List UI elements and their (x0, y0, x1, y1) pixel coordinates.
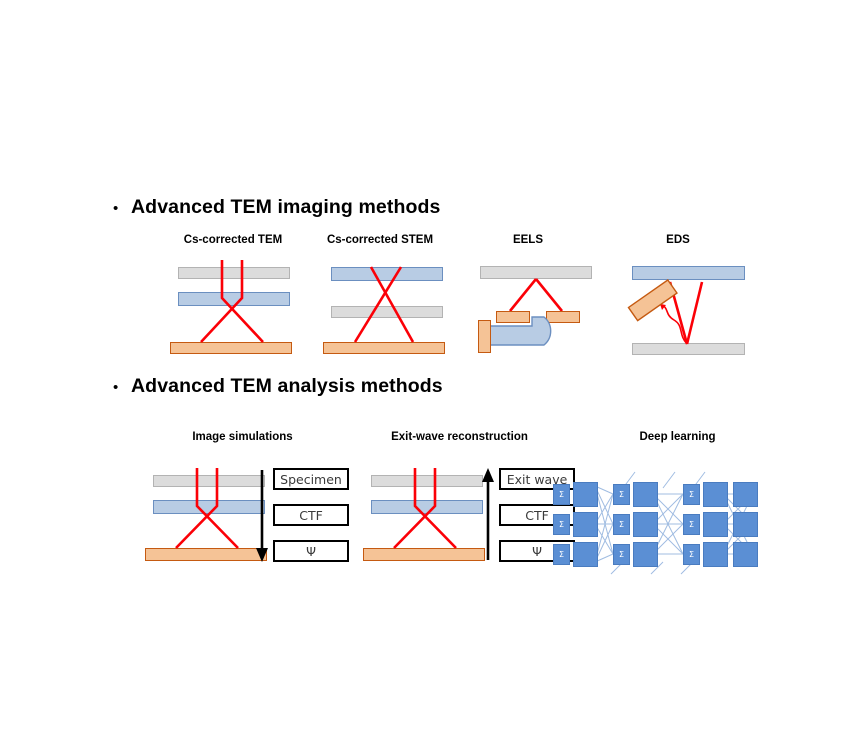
nn-sigma-node: Σ (613, 544, 630, 565)
caption-cs-corrected-tem: Cs-corrected TEM (178, 234, 288, 246)
nn-node (733, 542, 758, 567)
caption-exit-wave-reconstruction: Exit-wave reconstruction (372, 431, 547, 443)
nn-sigma-node: Σ (683, 484, 700, 505)
heading-imaging: • Advanced TEM imaging methods (113, 196, 440, 219)
diagram-cs-corrected-tem (170, 260, 300, 360)
nn-node (703, 512, 728, 537)
diagram-image-simulations: Specimen CTF Ψ (145, 468, 345, 568)
bullet-icon: • (113, 380, 131, 395)
nn-node (573, 512, 598, 537)
nn-node (633, 482, 658, 507)
nn-node (633, 512, 658, 537)
nn-node (573, 542, 598, 567)
sim-box-specimen: Specimen (273, 468, 349, 490)
heading-imaging-label: Advanced TEM imaging methods (131, 196, 440, 219)
nn-node (703, 542, 728, 567)
nn-node (573, 482, 598, 507)
caption-image-simulations: Image simulations (180, 431, 305, 443)
slide-canvas: • Advanced TEM imaging methods Cs-correc… (0, 0, 868, 747)
eds-beam-paths (620, 260, 755, 360)
eels-spectrometer-detector (478, 320, 491, 353)
nn-sigma-node: Σ (553, 544, 570, 565)
diagram-exit-wave-reconstruction: Exit wave CTF Ψ (363, 468, 563, 568)
diagram-eels (470, 260, 600, 360)
sim-box-ctf: CTF (273, 504, 349, 526)
nn-sigma-node: Σ (553, 514, 570, 535)
caption-cs-corrected-stem: Cs-corrected STEM (320, 234, 440, 246)
caption-eels: EELS (488, 234, 568, 246)
nn-node (733, 482, 758, 507)
diagram-deep-learning: Σ Σ Σ Σ Σ Σ Σ Σ Σ (595, 478, 755, 568)
diagram-eds (620, 260, 755, 360)
nn-node (733, 512, 758, 537)
heading-analysis: • Advanced TEM analysis methods (113, 375, 443, 398)
nn-node (703, 482, 728, 507)
nn-sigma-node: Σ (613, 484, 630, 505)
stem-beam-paths (323, 260, 453, 360)
diagram-cs-corrected-stem (323, 260, 453, 360)
caption-eds: EDS (638, 234, 718, 246)
nn-node (633, 542, 658, 567)
caption-deep-learning: Deep learning (605, 431, 750, 443)
nn-sigma-node: Σ (683, 514, 700, 535)
nn-sigma-node: Σ (683, 544, 700, 565)
nn-sigma-node: Σ (553, 484, 570, 505)
bullet-icon: • (113, 201, 131, 216)
sim-box-psi: Ψ (273, 540, 349, 562)
nn-sigma-node: Σ (613, 514, 630, 535)
heading-analysis-label: Advanced TEM analysis methods (131, 375, 443, 398)
tem-beam-paths (170, 260, 300, 360)
